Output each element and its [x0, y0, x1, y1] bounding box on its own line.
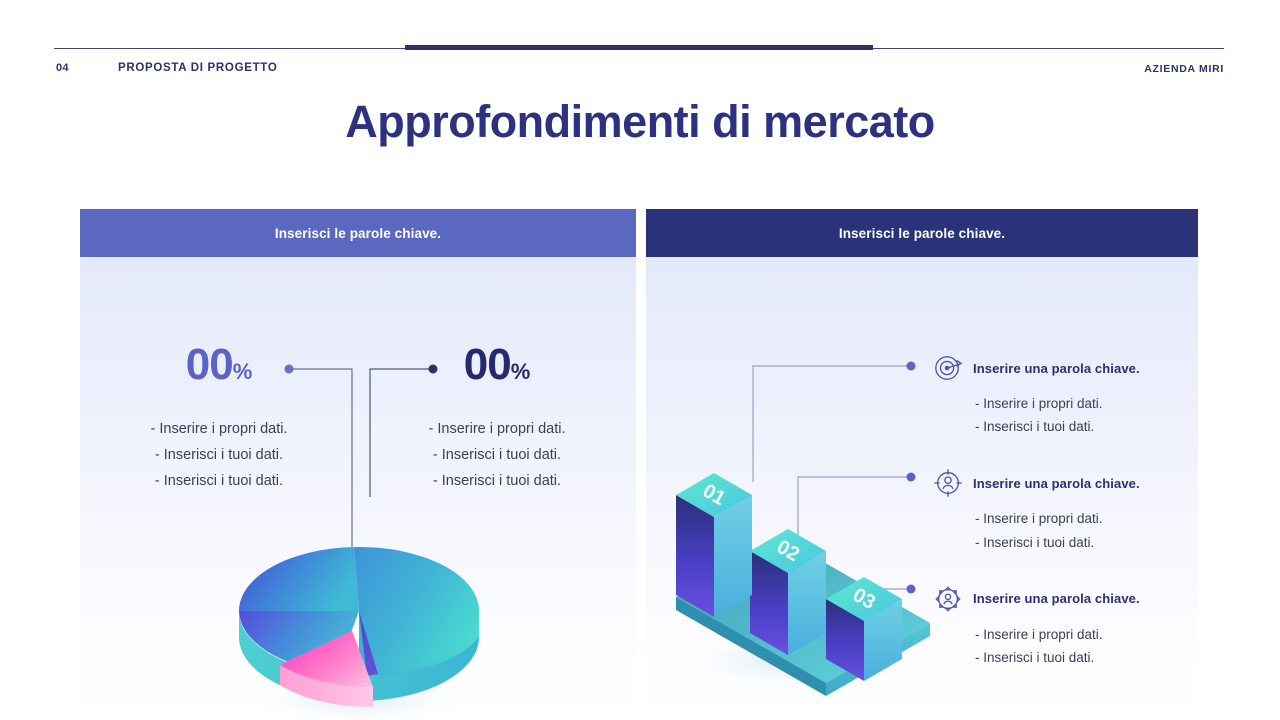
- page-title: Approfondimenti di mercato: [0, 96, 1280, 148]
- right-card-body: 03 02 01: [646, 257, 1198, 720]
- keyword-title: Inserire una parola chiave.: [973, 476, 1140, 491]
- keyword-line: - Inserire i propri dati.: [975, 507, 1183, 530]
- keyword-row-2: Inserire una parola chiave.: [933, 468, 1183, 498]
- connector-dot-left: [285, 365, 294, 374]
- left-card: Inserisci le parole chiave. 00% - Inseri…: [80, 209, 636, 720]
- right-card: Inserisci le parole chiave.: [646, 209, 1198, 720]
- keyword-title: Inserire una parola chiave.: [973, 591, 1140, 606]
- list-item[interactable]: Inserire una parola chiave. - Inserire i…: [933, 584, 1183, 669]
- pie-chart-svg: [228, 503, 490, 720]
- keyword-line: - Inserire i propri dati.: [975, 623, 1183, 646]
- keyword-row-3: Inserire una parola chiave.: [933, 584, 1183, 614]
- left-card-heading: Inserisci le parole chiave.: [80, 209, 636, 257]
- list-item[interactable]: Inserire una parola chiave. - Inserire i…: [933, 468, 1183, 553]
- connector-line-right: [370, 369, 430, 497]
- header-page-number: 04: [56, 62, 69, 74]
- list-item[interactable]: Inserire una parola chiave. - Inserire i…: [933, 353, 1183, 438]
- bar-chart: 03 02 01: [668, 447, 938, 697]
- keyword-line: - Inserisci i tuoi dati.: [975, 415, 1183, 438]
- gear-person-icon: [933, 584, 963, 614]
- keyword-line: - Inserisci i tuoi dati.: [975, 646, 1183, 669]
- bar-chart-svg: 03 02 01: [668, 447, 938, 697]
- pie-chart: [228, 503, 490, 720]
- right-card-heading: Inserisci le parole chiave.: [646, 209, 1198, 257]
- left-card-body: 00% - Inserire i propri dati. - Inserisc…: [80, 257, 636, 720]
- keyword-list: Inserire una parola chiave. - Inserire i…: [933, 353, 1183, 699]
- keyword-title: Inserire una parola chiave.: [973, 361, 1140, 376]
- pie-slice-1: [239, 547, 359, 611]
- header-left-label: PROPOSTA DI PROGETTO: [118, 62, 277, 74]
- header-rule-accent: [405, 45, 873, 50]
- keyword-line: - Inserire i propri dati.: [975, 392, 1183, 415]
- keyword-lines-3: - Inserire i propri dati. - Inserisci i …: [975, 623, 1183, 669]
- connector-dot-1: [907, 362, 916, 371]
- keyword-lines-2: - Inserire i propri dati. - Inserisci i …: [975, 507, 1183, 553]
- connector-dot-right: [429, 365, 438, 374]
- keyword-line: - Inserisci i tuoi dati.: [975, 531, 1183, 554]
- person-target-icon: [933, 468, 963, 498]
- target-icon: [933, 353, 963, 383]
- keyword-row-1: Inserire una parola chiave.: [933, 353, 1183, 383]
- header-right-label: AZIENDA MIRI: [1144, 63, 1224, 75]
- keyword-lines-1: - Inserire i propri dati. - Inserisci i …: [975, 392, 1183, 438]
